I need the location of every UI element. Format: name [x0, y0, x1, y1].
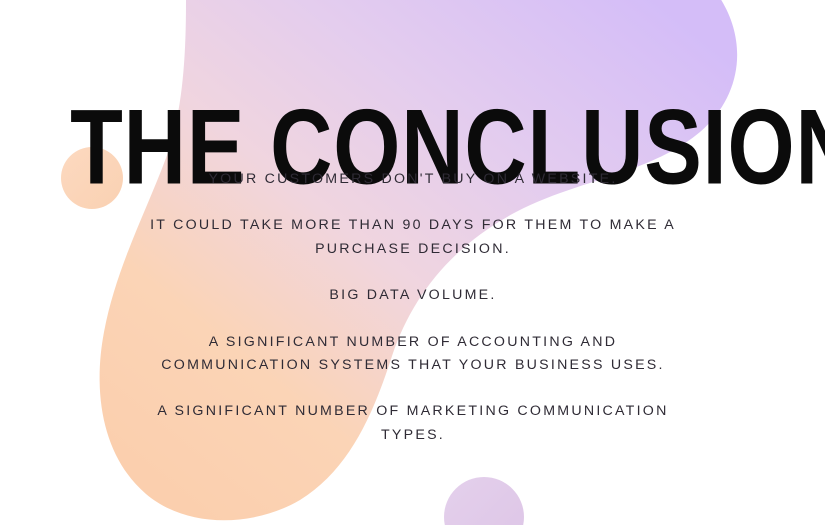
body-text-block: Your customers don't buy on a website. I…	[138, 168, 688, 447]
slide-content: The Conclusion Your customers don't buy …	[0, 0, 825, 525]
body-line-2: It could take more than 90 days for them…	[138, 214, 688, 261]
body-line-5: A significant number of marketing commun…	[138, 400, 688, 447]
body-line-3: Big data volume.	[138, 284, 688, 307]
body-line-4: A significant number of accounting and c…	[138, 331, 688, 378]
slide-canvas: The Conclusion Your customers don't buy …	[0, 0, 825, 525]
body-line-1: Your customers don't buy on a website.	[138, 168, 688, 191]
